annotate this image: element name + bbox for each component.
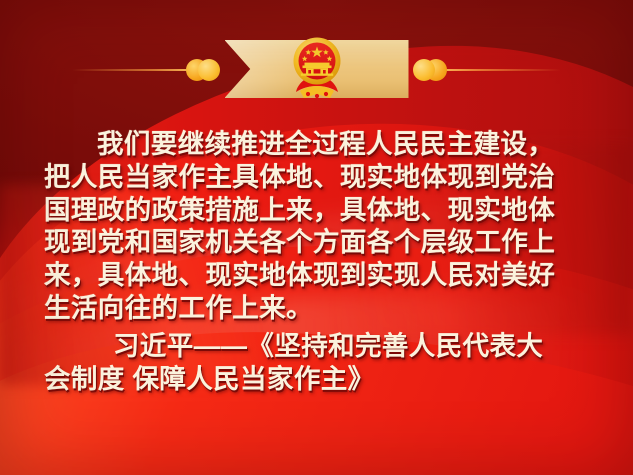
quote-block: 我们要继续推进全过程人民民主建设， 把人民当家作主具体地、现实地体现到党治 国理…	[44, 128, 595, 395]
quote-line-4: 现到党和国家机关各个方面各个层级工作上	[44, 226, 595, 259]
quote-line-5: 来，具体地、现实地体现到实现人民对美好	[44, 259, 595, 292]
attribution-line-2: 会制度 保障人民当家作主》	[44, 363, 595, 396]
quote-line-1: 我们要继续推进全过程人民民主建设，	[44, 128, 595, 161]
header-banner	[0, 34, 633, 106]
attribution-block: 习近平——《坚持和完善人民代表大 会制度 保障人民当家作主》	[44, 330, 595, 396]
right-ray-line	[443, 69, 561, 71]
china-national-emblem-icon	[286, 30, 348, 102]
left-gold-dot-inner	[198, 59, 220, 81]
quote-line-3: 国理政的政策措施上来，具体地、现实地体	[44, 194, 595, 227]
left-ray-line	[72, 69, 190, 71]
poster-canvas: 我们要继续推进全过程人民民主建设， 把人民当家作主具体地、现实地体现到党治 国理…	[0, 0, 633, 475]
right-gold-dot-inner	[413, 59, 435, 81]
quote-line-2: 把人民当家作主具体地、现实地体现到党治	[44, 161, 595, 194]
attribution-line-1: 习近平——《坚持和完善人民代表大	[44, 330, 595, 363]
quote-line-6: 生活向往的工作上来。	[44, 292, 595, 325]
